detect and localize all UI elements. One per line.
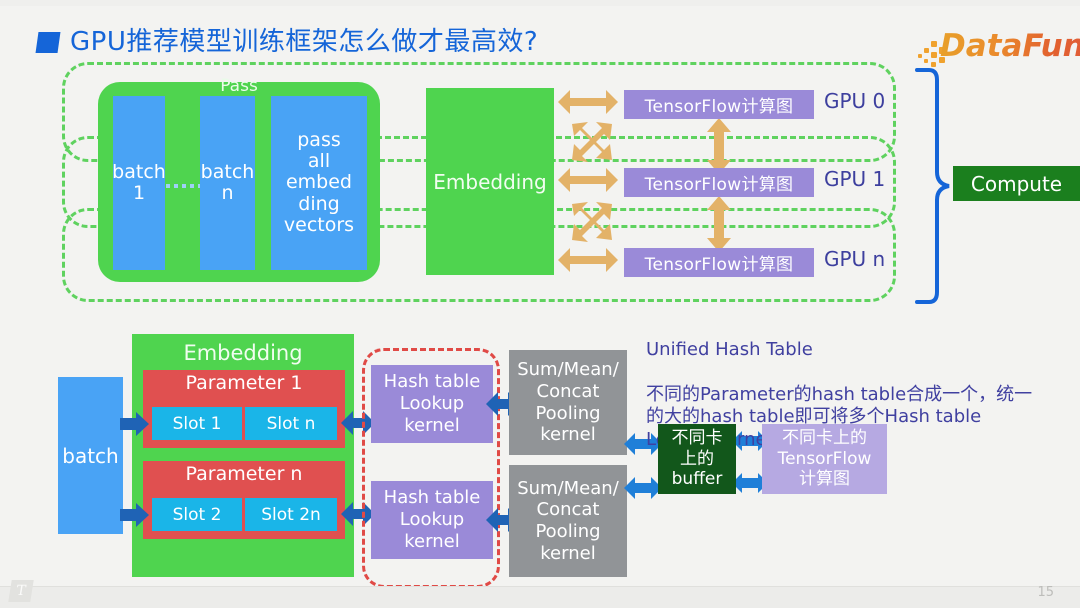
slot-2-label: Slot 2 xyxy=(173,505,222,525)
pass-embedding-vectors-label: pass all embed ding vectors xyxy=(284,130,354,236)
tensorflow-graph-gpu0: TensorFlow计算图 xyxy=(624,90,814,119)
hash-table-lookup-kernel-2: Hash table Lookup kernel xyxy=(371,481,493,559)
tensorflow-graph-gpu1-label: TensorFlow计算图 xyxy=(645,170,794,195)
pooling-kernel-1-label: Sum/Mean/ Concat Pooling kernel xyxy=(517,359,619,445)
slot-n-label: Slot n xyxy=(267,414,316,434)
logo-wordmark: DataFun. xyxy=(940,28,1080,64)
batch-ellipsis-connector xyxy=(166,184,200,188)
tensorflow-graph-gpun: TensorFlow计算图 xyxy=(624,248,814,277)
compute-badge-label: Compute xyxy=(971,172,1062,196)
cross-card-tensorflow-graph-block: 不同卡上的 TensorFlow 计算图 xyxy=(762,424,887,494)
slot-2n-block: Slot 2n xyxy=(245,498,337,531)
footer-bar xyxy=(0,586,1080,608)
batch-input-block: batch xyxy=(58,377,123,534)
embedding-bottom-label: Embedding xyxy=(132,341,354,365)
batch-1-block: batch 1 xyxy=(113,96,165,270)
watermark-t-icon: T xyxy=(8,580,33,602)
batch-input-label: batch xyxy=(62,444,118,468)
arrow-batch-to-parameter-1 xyxy=(120,410,150,438)
horizontal-double-arrow-gpu0 xyxy=(558,90,618,114)
gpu0-label: GPU 0 xyxy=(824,89,885,113)
slot-2-block: Slot 2 xyxy=(152,498,242,531)
arrow-pooling-2-to-buffer xyxy=(623,474,663,502)
compute-badge: Compute xyxy=(953,166,1080,201)
embedding-top-label: Embedding xyxy=(433,170,546,194)
slot-2n-label: Slot 2n xyxy=(261,505,321,525)
cross-card-buffer-label: 不同卡 上的 buffer xyxy=(672,428,723,489)
parameter-n-label: Parameter n xyxy=(143,463,345,485)
unified-hash-table-note-title: Unified Hash Table xyxy=(646,339,1066,362)
slot-n-block: Slot n xyxy=(245,407,337,440)
pooling-kernel-2-label: Sum/Mean/ Concat Pooling kernel xyxy=(517,478,619,564)
embedding-block-top: Embedding xyxy=(426,88,554,275)
gpun-label: GPU n xyxy=(824,247,885,271)
slot-1-block: Slot 1 xyxy=(152,407,242,440)
watermark-t-glyph: T xyxy=(15,583,27,599)
cross-card-tensorflow-graph-label: 不同卡上的 TensorFlow 计算图 xyxy=(778,428,872,490)
horizontal-double-arrow-gpun xyxy=(558,248,618,272)
parameter-1-label: Parameter 1 xyxy=(143,372,345,394)
cross-arrow-lower xyxy=(572,202,612,242)
batch-n-block: batch n xyxy=(200,96,255,270)
hash-table-lookup-kernel-2-label: Hash table Lookup kernel xyxy=(384,487,481,553)
arrow-batch-to-parameter-n xyxy=(120,501,150,529)
cross-card-buffer-block: 不同卡 上的 buffer xyxy=(658,424,736,494)
tensorflow-graph-gpu1: TensorFlow计算图 xyxy=(624,168,814,197)
page-title: GPU推荐模型训练框架怎么做才最高效? xyxy=(70,21,538,58)
vertical-double-arrow-1-n xyxy=(707,196,731,252)
gpu1-label: GPU 1 xyxy=(824,167,885,191)
vertical-double-arrow-0-1 xyxy=(707,118,731,174)
page-number: 15 xyxy=(1037,585,1054,600)
compute-bracket-icon xyxy=(915,66,953,306)
square-bullet-icon xyxy=(36,32,61,53)
cross-arrow-upper xyxy=(572,122,612,162)
batch-n-label: batch n xyxy=(201,162,255,205)
hash-table-lookup-kernel-1: Hash table Lookup kernel xyxy=(371,365,493,443)
batch-1-label: batch 1 xyxy=(112,162,166,205)
pooling-kernel-2: Sum/Mean/ Concat Pooling kernel xyxy=(509,465,627,577)
pass-label: Pass xyxy=(98,76,380,96)
slot-1-label: Slot 1 xyxy=(173,414,222,434)
top-edge-strip xyxy=(0,0,1080,6)
pooling-kernel-1: Sum/Mean/ Concat Pooling kernel xyxy=(509,350,627,455)
tensorflow-graph-gpu0-label: TensorFlow计算图 xyxy=(645,92,794,117)
slide-canvas: GPU推荐模型训练框架怎么做才最高效? DataFun. Pass batch … xyxy=(0,0,1080,608)
pass-embedding-vectors-block: pass all embed ding vectors xyxy=(271,96,367,270)
hash-table-lookup-kernel-1-label: Hash table Lookup kernel xyxy=(384,371,481,437)
horizontal-double-arrow-gpu1 xyxy=(558,168,618,192)
tensorflow-graph-gpun-label: TensorFlow计算图 xyxy=(645,250,794,275)
